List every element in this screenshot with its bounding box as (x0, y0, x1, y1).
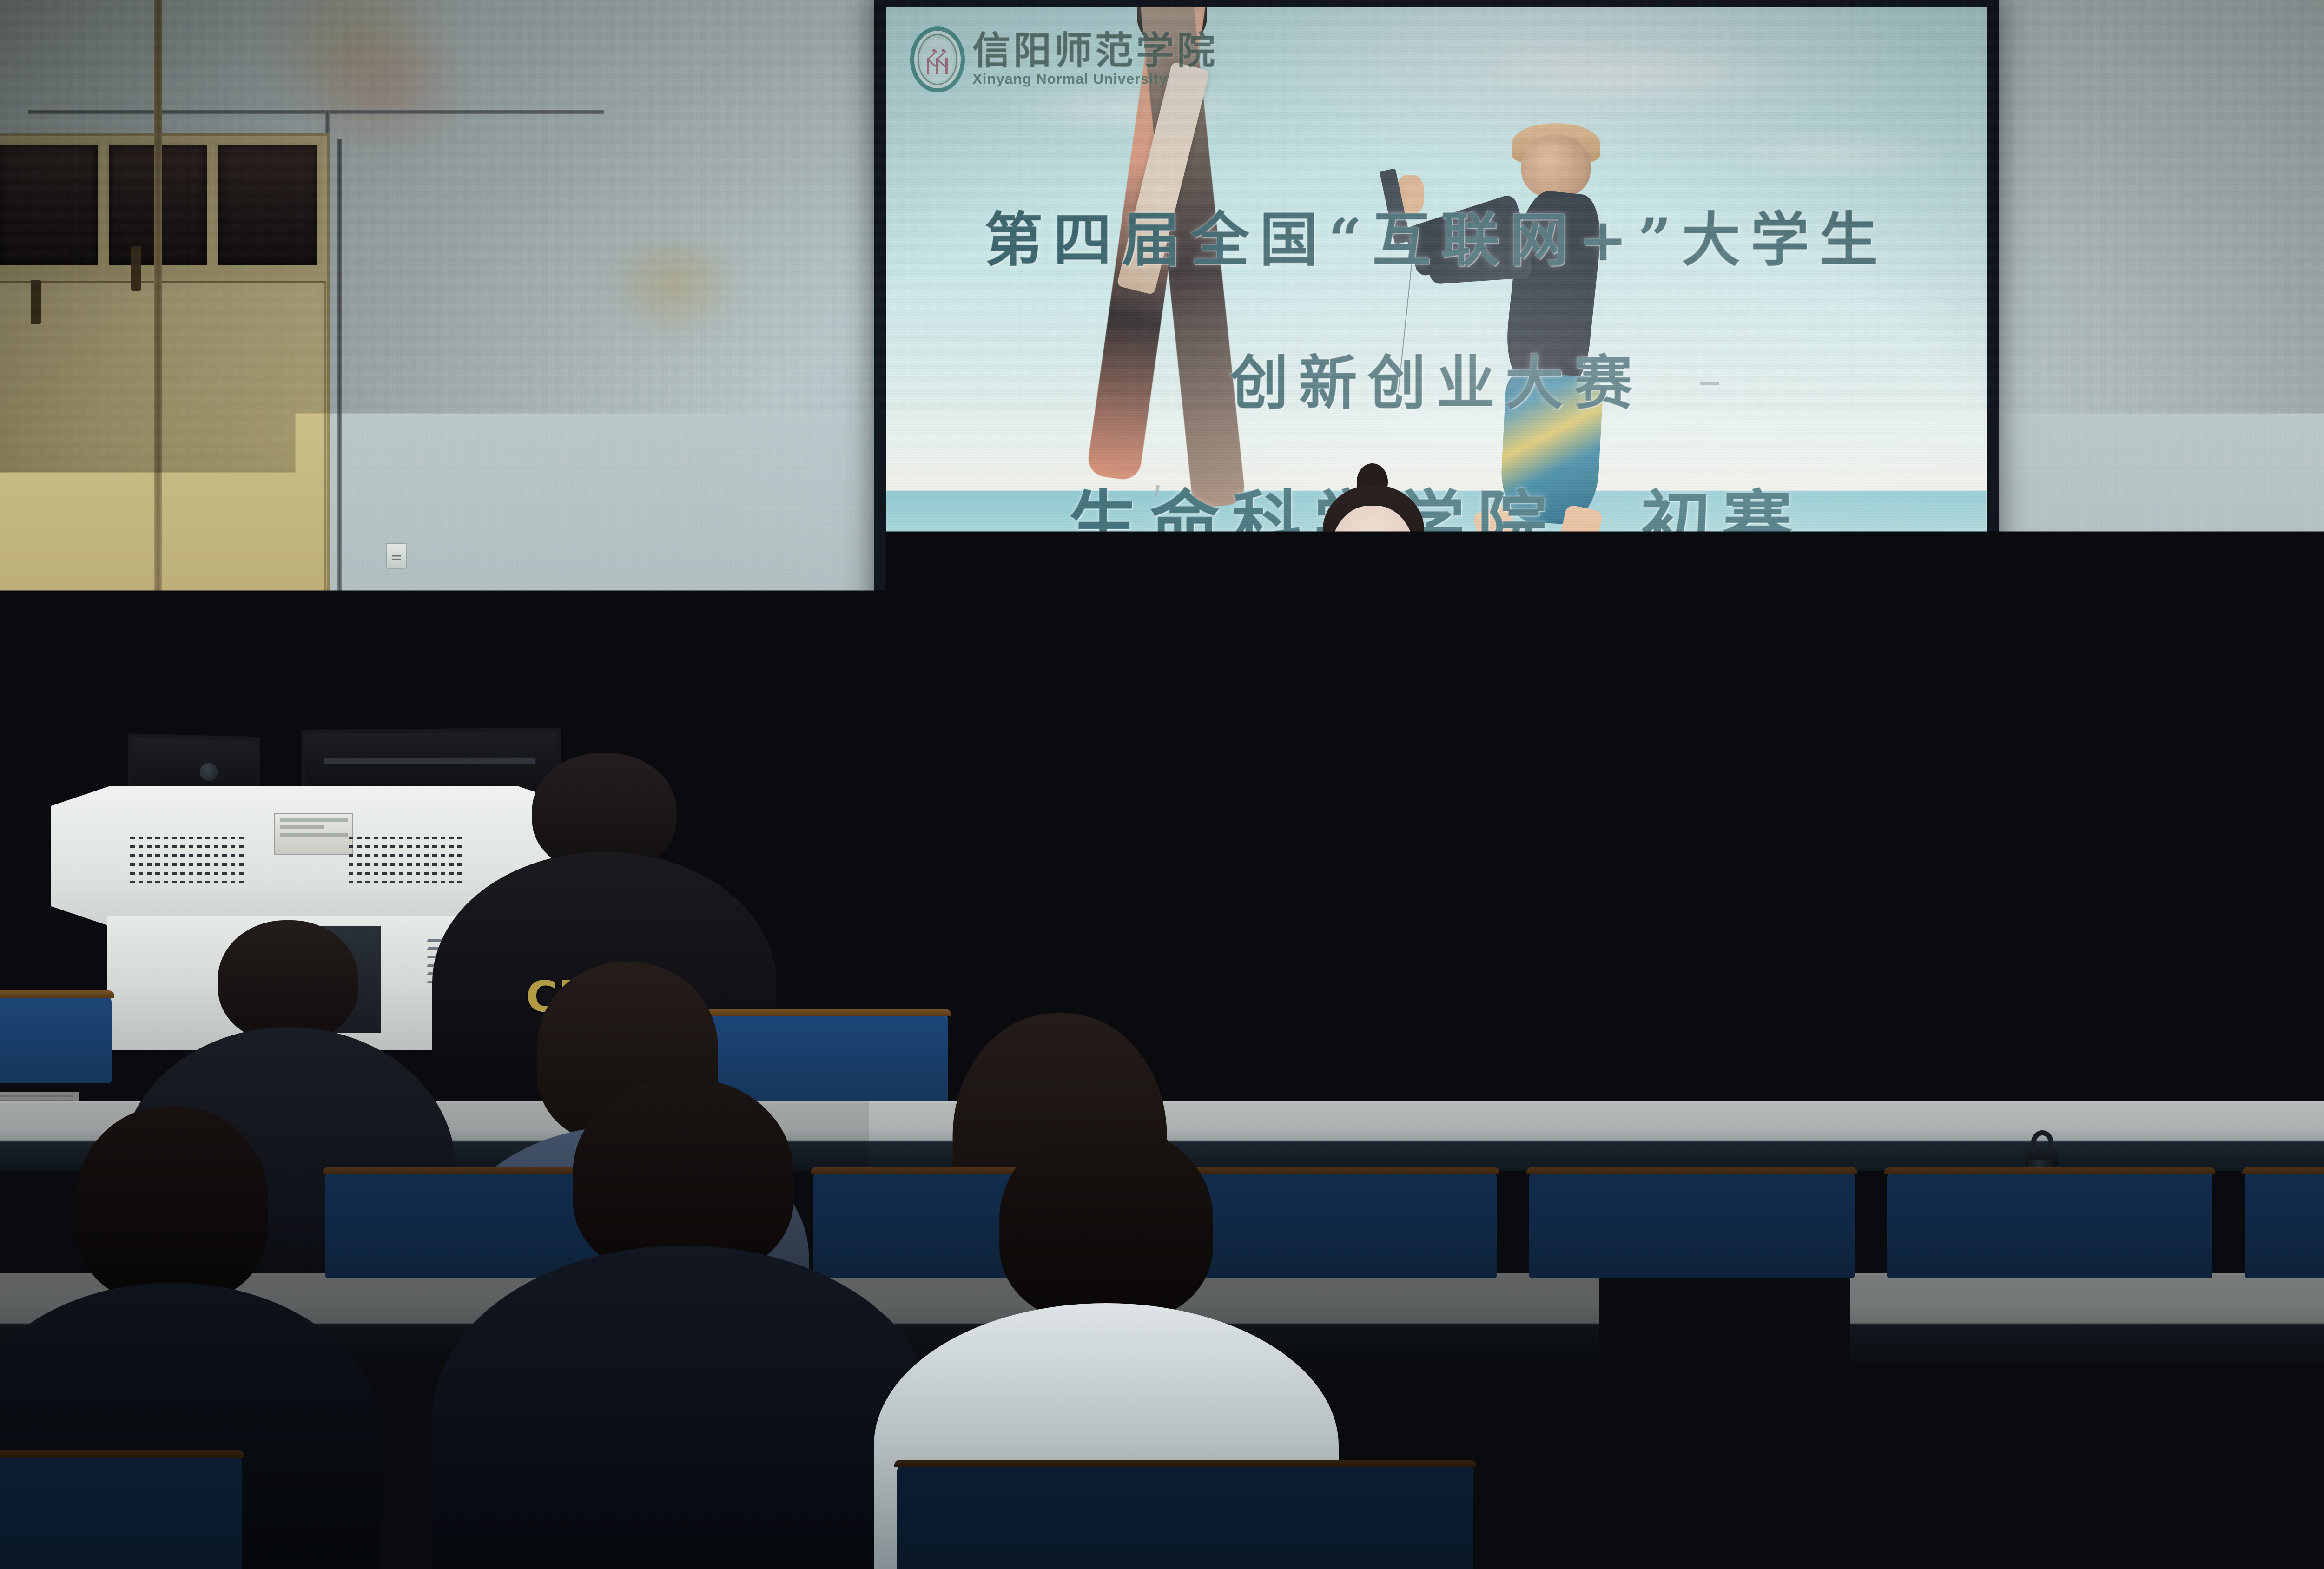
wall-stain-d (604, 242, 744, 344)
seal-emblem-icon (924, 48, 951, 74)
slide-title-line-1: 第四届全国“互联网+”大学生 (886, 193, 1987, 277)
person-head (1722, 725, 1857, 870)
chair-row2[interactable] (0, 995, 112, 1083)
slide-title-line-2: 创新创业大赛 (886, 336, 1987, 421)
chair-row2[interactable] (1315, 1013, 1631, 1101)
student-white-cap-center (999, 760, 1199, 946)
chair-row3[interactable] (1887, 1171, 2212, 1278)
chair-row4[interactable] (897, 1464, 1473, 1569)
presenter-shirt-text: seagram (1330, 712, 1413, 739)
glasses-bridge (1365, 557, 1382, 559)
nameplate-line (280, 833, 348, 837)
person-head (218, 920, 358, 1042)
person-hair (999, 1125, 1213, 1321)
chair-row2[interactable] (1664, 1013, 1980, 1101)
person-hair (76, 1106, 268, 1301)
backpack-zipper (1576, 1308, 1813, 1314)
chair-row3[interactable] (1529, 1171, 1855, 1278)
door-latch[interactable] (25, 605, 104, 612)
nameplate-line (280, 825, 324, 829)
presenter-patterned-shirt (1325, 633, 1417, 882)
chair-row4[interactable] (2236, 1455, 2324, 1569)
ceiling-conduit (28, 110, 604, 114)
presenter-note-paper (1352, 803, 1390, 829)
presenter-arm-left (1253, 686, 1315, 887)
door-deadbolt[interactable] (131, 246, 141, 291)
cap-sizing-strap (1063, 909, 1131, 928)
paper-cup (1571, 925, 1593, 961)
university-logo-text: 信阳师范学院 Xinyang Normal University (972, 32, 1218, 87)
classroom-photo-scene: 信阳师范学院 Xinyang Normal University 第四届全国“互… (0, 0, 2324, 1569)
chair-row4[interactable] (0, 1455, 242, 1569)
presenter-glasses-icon (1325, 545, 1422, 573)
cap-brim (1131, 838, 1211, 879)
slide-beached-boat (1832, 574, 1884, 584)
door-transom (0, 136, 327, 275)
chair-row4[interactable] (246, 1455, 786, 1569)
slide-distant-boat (1772, 568, 1799, 574)
nameplate-line (280, 818, 348, 822)
power-socket-right[interactable] (2287, 558, 2308, 584)
university-name-cn: 信阳师范学院 (972, 32, 1218, 70)
lectern-vent-left (130, 837, 246, 883)
chair-row2[interactable] (2013, 1013, 2324, 1101)
university-logo: 信阳师范学院 Xinyang Normal University (910, 26, 1218, 92)
slide-surfer-head (1521, 135, 1591, 198)
door-deadbolt[interactable] (31, 280, 41, 324)
glasses-lens-left (1325, 545, 1366, 573)
desk-row-3b (1850, 1273, 2324, 1362)
door-latch-2[interactable] (34, 621, 67, 627)
transom-pane (0, 142, 101, 269)
chair-row4[interactable] (1571, 1455, 2147, 1569)
transom-pane (215, 142, 321, 269)
presenter-arm-right (1427, 686, 1490, 887)
university-seal-icon (910, 26, 965, 92)
left-classroom-door[interactable] (0, 133, 330, 746)
door-leaf[interactable] (0, 281, 326, 743)
chair-row3[interactable] (2245, 1171, 2324, 1278)
wall-conduit-left-2 (337, 139, 342, 632)
university-name-en: Xinyang Normal University (972, 71, 1218, 87)
glasses-lens-right (1381, 545, 1422, 573)
power-socket-left[interactable] (386, 543, 407, 569)
lectern-nameplate (274, 813, 353, 855)
